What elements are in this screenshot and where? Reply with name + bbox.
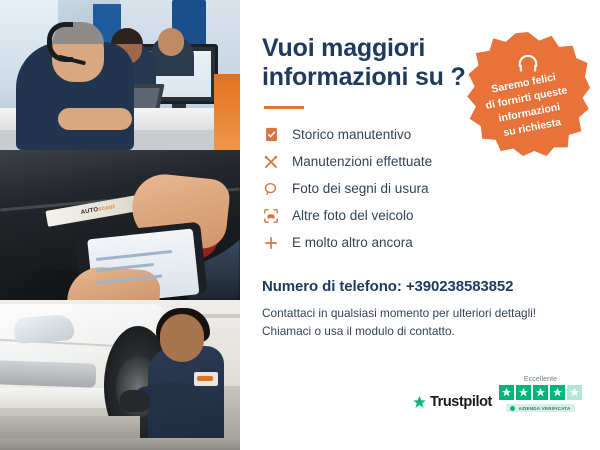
contact-subtext-line-1: Contattaci in qualsiasi momento per ulte… [262, 304, 576, 322]
list-item-label: Foto dei segni di usura [292, 181, 429, 196]
page-title: Vuoi maggiori informazioni su ? [262, 34, 477, 92]
vehicle-inspection-tablet-photo: AUTOscout [0, 150, 240, 300]
checklist-document-icon [262, 126, 280, 144]
list-item: Altre foto del veicolo [262, 202, 576, 229]
trustpilot-logo: Trustpilot [412, 394, 492, 412]
plus-icon [262, 234, 280, 252]
crossed-tools-icon [262, 153, 280, 171]
trustpilot-wordmark: Trustpilot [430, 394, 492, 410]
trustpilot-widget[interactable]: Trustpilot Eccellente AZIENDA VERIFICATA [412, 376, 582, 412]
list-item-label: Manutenzioni effettuate [292, 154, 432, 169]
list-item: E molto altro ancora [262, 229, 576, 256]
verified-check-icon [510, 406, 515, 411]
phone-number[interactable]: Numero di telefono: +390238583852 [262, 278, 576, 295]
title-divider [264, 106, 304, 109]
star-icon [516, 385, 531, 400]
contact-subtext: Contattaci in qualsiasi momento per ulte… [262, 304, 576, 341]
promo-banner: AUTOscout Vuoi maggiori informazioni su … [0, 0, 600, 450]
magnifier-icon [262, 180, 280, 198]
list-item-label: Storico manutentivo [292, 127, 411, 142]
headset-icon [517, 54, 539, 74]
rating-label: Eccellente [524, 376, 557, 383]
call-center-agent-photo [0, 0, 240, 150]
star-icon [567, 385, 582, 400]
contact-subtext-line-2: Chiamaci o usa il modulo di contatto. [262, 322, 576, 340]
star-icon [499, 385, 514, 400]
car-photo-frame-icon [262, 207, 280, 225]
verified-label: AZIENDA VERIFICATA [518, 406, 570, 411]
star-icon [412, 395, 427, 410]
mechanic-wheel-check-photo [0, 300, 240, 450]
callout-badge: Saremo felici di fornirti queste informa… [466, 32, 590, 156]
verified-company-badge: AZIENDA VERIFICATA [506, 404, 574, 412]
list-item: Foto dei segni di usura [262, 175, 576, 202]
list-item-label: Altre foto del veicolo [292, 208, 414, 223]
list-item-label: E molto altro ancora [292, 235, 413, 250]
trustpilot-rating: Eccellente AZIENDA VERIFICATA [499, 376, 582, 412]
content-panel: Vuoi maggiori informazioni su ? Saremo f… [240, 0, 600, 450]
star-icon [550, 385, 565, 400]
star-rating [499, 385, 582, 400]
photo-column: AUTOscout [0, 0, 240, 450]
star-icon [533, 385, 548, 400]
